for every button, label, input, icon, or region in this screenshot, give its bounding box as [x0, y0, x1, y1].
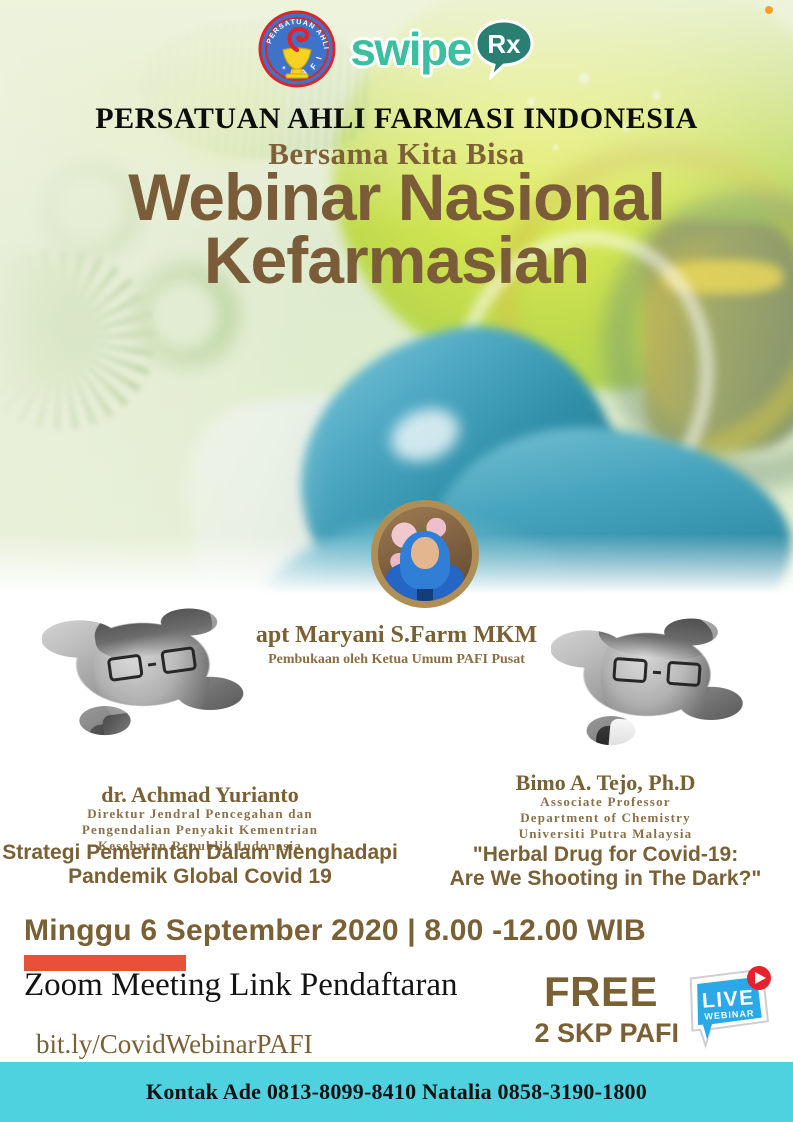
- credits-label: 2 SKP PAFI: [534, 1018, 679, 1049]
- speaker-topic-left: Strategi Pemerintah Dalam Menghadapi Pan…: [0, 841, 400, 888]
- affiliation-line: Pengendalian Penyakit Kementrian: [0, 822, 400, 838]
- rx-speech-bubble-icon: Rx: [473, 18, 535, 80]
- svg-text:Rx: Rx: [487, 29, 521, 59]
- affiliation-line: Universiti Putra Malaysia: [418, 826, 793, 842]
- webinar-poster: PERSATUAN AHLI FARMASI INDONESIA * P A F…: [0, 0, 793, 1122]
- event-datetime: Minggu 6 September 2020 | 8.00 -12.00 WI…: [24, 914, 646, 948]
- topic-line: Strategi Pemerintah Dalam Menghadapi: [0, 841, 400, 865]
- affiliation-line: Associate Professor: [418, 794, 793, 810]
- moderator-name: apt Maryani S.Farm MKM: [0, 622, 793, 649]
- contact-band: Kontak Ade 0813-8099-8410 Natalia 0858-3…: [0, 1062, 793, 1122]
- contact-text: Kontak Ade 0813-8099-8410 Natalia 0858-3…: [146, 1079, 647, 1105]
- affiliation-line: Department of Chemistry: [418, 810, 793, 826]
- organization-title: PERSATUAN AHLI FARMASI INDONESIA: [0, 102, 793, 136]
- swiperx-logo: swipe Rx: [350, 18, 534, 80]
- brush-mask-left: [42, 588, 252, 758]
- affiliation-line: Direktur Jendral Pencegahan dan: [0, 806, 400, 822]
- topic-line: Are We Shooting in The Dark?": [418, 867, 793, 891]
- topic-line: "Herbal Drug for Covid-19:: [418, 843, 793, 867]
- registration-link[interactable]: bit.ly/CovidWebinarPAFI: [36, 1029, 313, 1060]
- glasses-bridge: [653, 670, 661, 674]
- portrait-collar-right: [607, 718, 700, 766]
- moderator-avatar: [371, 500, 479, 608]
- live-webinar-badge-icon: LIVE WEBINAR: [679, 966, 775, 1052]
- speaker-name-right: Bimo A. Tejo, Ph.D: [418, 770, 793, 796]
- topic-line: Pandemik Global Covid 19: [0, 865, 400, 889]
- moderator-role: Pembukaan oleh Ketua Umum PAFI Pusat: [0, 652, 793, 668]
- speaker-photo-left: [42, 588, 252, 758]
- swipe-wordmark: swipe: [350, 26, 470, 72]
- speaker-topic-right: "Herbal Drug for Covid-19: Are We Shooti…: [418, 843, 793, 890]
- page-title: Webinar Nasional Kefarmasian: [0, 166, 793, 293]
- speaker-name-left: dr. Achmad Yurianto: [0, 782, 400, 808]
- logo-row: PERSATUAN AHLI FARMASI INDONESIA * P A F…: [0, 8, 793, 90]
- swipe-i-dot-icon: [765, 6, 773, 14]
- moderator-face: [411, 537, 439, 569]
- price-label: FREE: [544, 968, 658, 1016]
- pafi-logo-icon: PERSATUAN AHLI FARMASI INDONESIA * P A F…: [258, 10, 336, 88]
- speaker-affiliation-right: Associate Professor Department of Chemis…: [418, 794, 793, 842]
- title-line-2: Kefarmasian: [0, 229, 793, 292]
- event-platform-line: Zoom Meeting Link Pendaftaran: [24, 967, 457, 1004]
